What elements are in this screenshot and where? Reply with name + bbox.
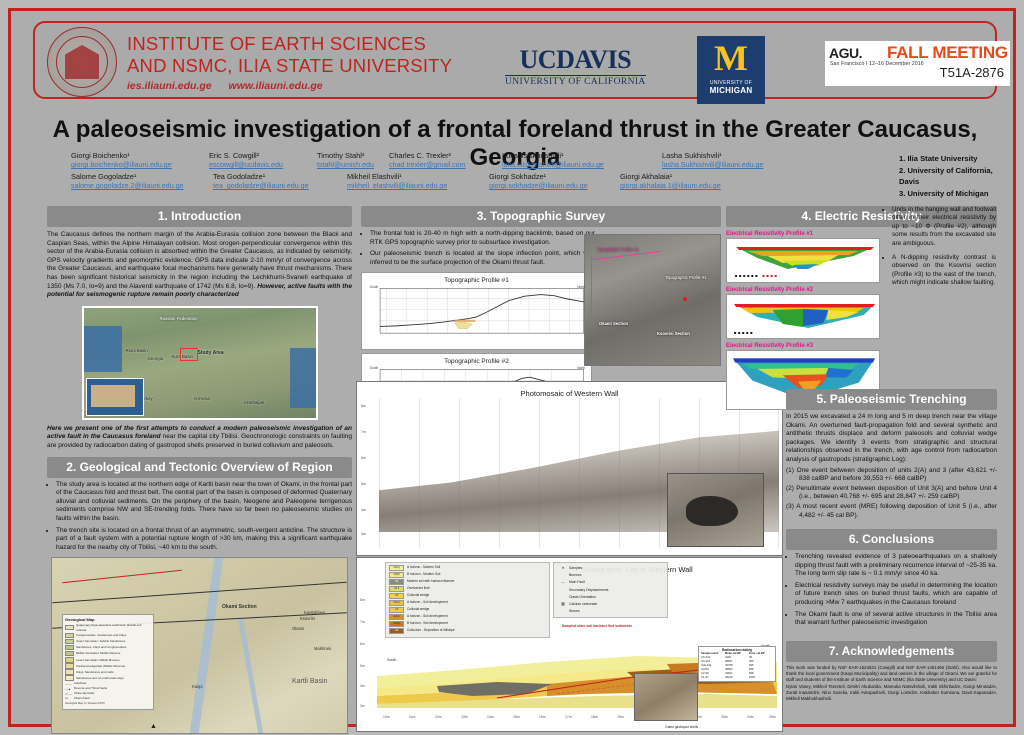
unit-label: A horizon - Soil development [407,614,448,619]
author-names-row-2: Salome Gogoladze¹ Tea Godoladze¹ Mikheil… [71,172,841,181]
column-right: 4. Electric Resistivity Electrical Resis… [726,206,997,410]
strat-xtick: 12m [435,715,442,719]
aerial-label-ksovrisi-section: Ksovrisi Section [657,331,690,336]
topographic-bullet-list: The frontal fold is 20-40 m high with a … [361,230,595,267]
profile-1-north-label: North [577,285,585,289]
legend-symbol-item: ▦Calcium carbonate [557,601,664,607]
legend-item: Sandstones and non-carbonate clays [65,675,151,681]
resistivity-2-svg [727,295,879,338]
legend-line-thrust: —▲— [65,687,72,691]
poster-abstract-code: T51A-2876 [940,65,1004,80]
strat-xtick: 23m [721,715,728,719]
study-area-box [180,348,198,361]
legend-label: Konkian-Karaganian (Middle Miocene) [76,664,125,668]
uc-davis-logo: UCDAVIS UNIVERSITY OF CALIFORNIA [505,45,646,87]
black-sea-shape [84,326,122,372]
resistivity-bullet: A N-dipping resistivity contrast is obse… [892,254,996,288]
photomosaic-panel: Photomosaic of Western Wall North 8m 7m … [356,381,783,556]
conclusion-bullet: Electrical resistivity surveys may be us… [795,582,997,608]
map-label-russia: Russian Federation [160,316,198,321]
photomosaic-ytick: 3m [361,532,366,536]
legend-item: Sandstones, Clays and Conglomerates [65,645,151,651]
symbol-marker: ∗ [557,565,569,571]
conclusion-bullet: The Okami fault is one of several active… [795,611,997,628]
table-row: U1-S7464101020 [701,676,773,680]
symbol-label: Clasts Orientation [569,594,596,600]
author-name: Eric S. Cowgill² [209,151,317,160]
okami-fault-line [62,570,181,584]
seal-crest-shape [65,45,99,79]
profile-line-vertical [591,257,592,327]
legend-item: ▪▪▪Okami Fault [65,696,151,700]
author-email[interactable]: luka.tsiskarishvili@iliauni.edu.ge [502,161,662,169]
author-name: Charles C. Trexler² [389,151,502,160]
stratigraphic-unit-legend: U6(A)A horizon - Modern Soil U6(B)B hori… [385,562,550,638]
resistivity-profile-2-image [726,294,880,339]
unit-swatch: U2(A) [389,614,404,620]
strat-xtick: 15m [513,715,520,719]
author-email[interactable]: escowgill@ucdavis.edu [209,161,317,169]
map-label-okami: Okami [292,626,304,631]
strat-xtick: 11m [409,715,415,719]
resistivity-bullet: Units in the hanging wall and footwall d… [892,206,996,248]
unit-swatch: U3(A) [389,600,404,606]
legend-swatch [65,639,74,645]
institute-line-1: INSTITUTE OF EARTH SCIENCES [127,33,452,55]
legend-swatch [65,675,74,681]
institute-url-1[interactable]: ies.iliauni.edu.ge [127,80,212,92]
legend-symbol-item: ∗Samples [557,565,664,571]
trench-closeup-photo [667,473,764,547]
map-label-ksovrisi: Ksovrisi [300,616,315,621]
legend-item: Middle Sarmatian: Middle Miocene [65,651,151,657]
legend-label: Anticlines [74,681,86,685]
legend-item: Lower Sarmatian: Middle Miocene [65,657,151,663]
strat-xtick: 19m [617,715,624,719]
strat-xtick: 10m [383,715,390,719]
profile-1-svg [364,285,589,341]
author-email[interactable]: tea_godoladze@iliauni.edu.ge [213,182,347,190]
chart-profile-1 [364,285,589,341]
unit-label: Overturned limb [407,586,430,591]
unit-label: B horizon - Modern Soil [407,572,440,577]
legend-label: Strike-slip faults [74,691,94,695]
radiocarbon-dating-table: Radiocarbon dating Sample name Mean cal … [698,646,776,682]
legend-unit-item: U3Colluvial wedge [389,607,546,613]
geology-bullet: The study area is located at the norther… [56,481,352,524]
legend-swatch [65,657,74,663]
legend-label: Conglomerates, Sandstones and Clays [76,633,126,637]
author-email[interactable]: giorgi.sokhadze@iliauni.edu.ge [489,182,620,190]
photomosaic-ytick: 5m [361,482,366,486]
poster-header: INSTITUTE OF EARTH SCIENCES AND NSMC, IL… [33,21,997,99]
resistivity-profile-2-block: Electrical Resistivity Profile #2 [726,287,997,339]
author-name: Mikheil Elashvili¹ [347,172,489,181]
legend-swatch [65,663,74,669]
unit-label: B horizon - Soil development [407,621,448,626]
stratigraphic-symbol-legend: ∗Samples Burrows —Main Fault Secondary D… [553,562,668,618]
resistivity-bullet-block: Units in the hanging wall and footwall d… [884,206,996,294]
profile-2-north-label: North [577,366,585,370]
author-name: Giorgi Akhalaia¹ [620,172,672,181]
column-left: 1. Introduction The Caucasus defines the… [47,206,352,734]
resistivity-profile-1-image [726,238,880,283]
legend-label: Upper Sarmatian: Soluble Sandstones [76,639,125,643]
symbol-label: Calcium carbonate [569,601,597,607]
section-header-introduction: 1. Introduction [47,206,352,227]
topographic-bullet: The frontal fold is 20-40 m high with a … [370,230,595,247]
acknowledgements-text: This work was funded by NSF EAR-1524631 … [786,665,997,683]
author-name: Tea Godoladze¹ [213,172,347,181]
legend-item: Clays, Sandstones and marls [65,669,151,675]
author-name: Lasha Sukhishvili¹ [662,151,722,160]
acknowledgements-names: Dylan Vasey, Mikheil Tsereteli, Dimitri … [786,684,997,702]
strat-ytick: 6m [360,642,365,646]
legend-swatch [65,651,74,657]
author-block: Giorgi Boichenko¹ Eric S. Cowgill² Timot… [71,151,841,193]
conclusion-bullet: Trenching revealed evidence of 3 paleoea… [795,553,997,579]
stratigraphic-log-panel: Stratigraphic Log of Western Wall U6(A)A… [356,557,783,732]
map-label-azerbaijan: Azerbaijan [244,400,265,405]
unit-label: A horizon - Soil development [407,600,448,605]
geological-map: Okami Section Ksovrisi Okami Mukhrani Ka… [51,557,348,734]
gastropod-shell-photo [634,673,698,721]
thrust-fault-line-1 [52,582,346,604]
legend-line-strikeslip: — — [65,692,72,696]
resistivity-bullet-list: Units in the hanging wall and footwall d… [884,206,996,288]
unit-swatch: U3-4 [389,586,404,592]
map-label-kartli-basin: Kartli Basin [292,678,327,685]
unit-swatch: U1 [389,628,404,634]
symbol-marker: ▦ [557,601,569,607]
poster-canvas: INSTITUTE OF EARTH SCIENCES AND NSMC, IL… [8,8,1016,727]
legend-line-anticline: —·— [65,682,72,686]
trenching-event: (1) One event between deposition of unit… [786,467,997,484]
umich-block-m-icon: M [697,36,765,80]
legend-symbol-item: Clasts Orientation [557,594,664,600]
map-label-okami-section: Okami Section [222,604,257,610]
legend-swatch [65,633,74,639]
author-email[interactable]: chad.trexler@gmail.com [389,161,502,169]
legend-unit-item: U1Colluvium - Deposition of hillslope [389,628,546,634]
author-name: Giorgi Sokhadze¹ [489,172,620,181]
legend-swatch [65,669,74,675]
strat-xtick: 16m [539,715,546,719]
panel-acknowledgements: 7. Acknowledgements This work was funded… [786,641,997,702]
legend-item: Konkian-Karaganian (Middle Miocene) [65,663,151,669]
strat-ytick: 3m [360,704,365,708]
affiliations-list: 1. Ilia State University 2. University o… [899,153,1013,199]
photomosaic-title: Photomosaic of Western Wall [357,389,782,398]
agu-fall-meeting-badge: AGU. FALL MEETING San Francisco I 12–16 … [825,41,1010,86]
uc-davis-wordmark: UCDAVIS [505,45,646,75]
strat-xtick: 24m [747,715,754,719]
topographic-bullet: Our paleoseismic trench is located at th… [370,250,595,267]
unit-swatch: U5 [389,579,404,585]
unit-label: Modern soil with human influence [407,579,454,584]
unit-swatch: U4 [389,593,404,599]
inset-landmass [91,385,135,407]
trenching-event: (2) Penultimate event between deposition… [786,485,997,502]
legend-item: Conglomerates, Sandstones and Clays [65,633,151,639]
aerial-label-okami-section: Okami Section [599,321,628,326]
legend-unit-item: U6(B)B horizon - Modern Soil [389,572,546,578]
strat-xtick: 17m [565,715,572,719]
symbol-marker: — [557,579,569,585]
trenching-event-list: (1) One event between deposition of unit… [786,467,997,521]
author-email[interactable]: mikheil_elashvili@iliauni.edu.ge [347,182,489,190]
rc-cell: 1020 [749,676,773,680]
legend-item: —·—Anticlines [65,681,151,685]
photomosaic-ytick: 4m [361,508,366,512]
agu-logo-text: AGU. [829,45,862,61]
author-name: Luka Tsiskarishvili¹ [502,151,662,160]
legend-label: Okami Fault [74,696,90,700]
strat-xtick: 13m [461,715,468,719]
symbol-label: Stones [569,608,580,614]
gastropod-photo-caption: Dated gastropod shells [665,725,698,729]
unit-swatch: U6(B) [389,572,404,578]
strat-ytick: 5m [360,664,365,668]
map-label-kavtiskhevi: Kavtiskhevi [304,610,325,615]
unit-swatch: U3 [389,607,404,613]
strat-x-axis: 10m 11m 12m 13m 14m 15m 16m 17m 18m 19m … [377,715,777,723]
regional-tectonic-map: Russian Federation Georgia Rioni Basin K… [82,306,318,420]
ilia-university-seal-icon [47,27,117,97]
symbol-label: Secondary Displacements [569,587,608,593]
legend-label: Clays, Sandstones and marls [76,670,114,674]
legend-item: Quaternary fluvio-lacustrine sediments: … [65,623,151,632]
author-email[interactable]: giorgi.akhalaia.1@iliauni.edu.ge [620,182,721,190]
legend-label: Reverse and Thrust faults [74,686,107,690]
legend-item: —▲—Reverse and Thrust faults [65,686,151,690]
photomosaic-ytick: 8m [361,404,366,408]
uc-davis-subtitle: UNIVERSITY OF CALIFORNIA [505,75,646,87]
north-arrow-icon: ▲ [150,723,157,730]
unit-label: Colluvial wedge [407,593,429,598]
section-header-acknowledgements: 7. Acknowledgements [786,641,997,662]
aerial-trench-photo: Topographic Profile #1 Okami Section Kso… [584,234,721,366]
unit-label: A horizon - Modern Soil [407,565,440,570]
umich-line-2: MICHIGAN [697,86,765,96]
strat-xtick: 25m [769,715,776,719]
geological-map-legend: Geological Map Quaternary fluvio-lacustr… [62,614,154,710]
legend-swatch [65,645,74,651]
strat-annotation-note: Sampled older soil horizons find sedimen… [562,624,632,628]
unit-swatch: U2(B) [389,621,404,627]
trenching-intro-text: In 2015 we excavated a 24 m long and 5 m… [786,413,997,465]
rc-cell: 46410 [725,676,749,680]
author-name: Giorgi Boichenko¹ [71,151,209,160]
resistivity-1-svg [727,239,879,282]
legend-symbol-item: —Main Fault [557,579,664,585]
author-name: Timothy Stahl³ [317,151,389,160]
author-emails-row-1: giorgi.boichenko@iliauni.edu.ge escowgil… [71,161,841,169]
affiliation-item: 1. Ilia State University [899,153,1013,165]
topographic-profile-1-panel: Topographic Profile #1 [361,272,592,350]
legend-label: Lower Sarmatian: Middle Miocene [76,658,120,662]
university-of-michigan-logo: M UNIVERSITY OF MICHIGAN [697,36,765,104]
map-label-study-area: Study Area [198,350,224,356]
legend-unit-item: U6(A)A horizon - Modern Soil [389,565,546,571]
aerial-label-topo-profile-1: Topographic Profile #1 [665,275,707,280]
map-label-rioni-basin: Rioni Basin [126,348,148,353]
profile-2-south-label: South [370,366,378,370]
author-name: Salome Gogoladze¹ [71,172,213,181]
resistivity-profile-3-label: Electrical Resistivity Profile #3 [726,343,997,349]
geology-bullet: The trench site is located on a frontal … [56,527,352,553]
legend-line-okami-fault: ▪▪▪ [65,696,72,700]
agu-meeting-text: FALL MEETING [887,43,1008,63]
strat-ytick: 4m [360,684,365,688]
section-header-geology: 2. Geological and Tectonic Overview of R… [47,457,352,478]
legend-unit-item: U3(A)A horizon - Soil development [389,600,546,606]
section-header-conclusions: 6. Conclusions [786,529,997,550]
photomosaic-ytick: 7m [361,430,366,434]
map-inset-overview [86,378,144,416]
dark-feature-shape [686,496,738,526]
chart-title-profile-1: Topographic Profile #1 [364,277,589,284]
legend-unit-item: U4Colluvial wedge [389,593,546,599]
legend-item: — —Strike-slip faults [65,691,151,695]
geology-bullet-list: The study area is located at the norther… [47,481,352,553]
introduction-paragraph-1: The Caucasus defines the northern margin… [47,231,352,300]
introduction-paragraph-2: Here we present one of the first attempt… [47,425,352,451]
panel-conclusions: 6. Conclusions Trenching revealed eviden… [786,529,997,631]
unit-swatch: U6(A) [389,565,404,571]
rc-cell: U1-S7 [701,676,725,680]
affiliation-item: 2. University of California, Davis [899,165,1013,188]
river-mtkvari [190,558,224,733]
legend-credit: Geological Map: D. Papava (1976) [65,702,151,705]
author-email[interactable]: lasha.Sukhishvili@iliauni.edu.ge [662,161,763,169]
conclusions-bullet-list: Trenching revealed evidence of 3 paleoea… [786,553,997,628]
legend-unit-item: U5Modern soil with human influence [389,579,546,585]
symbol-label: Burrows [569,572,581,578]
trench-site-marker-icon [683,297,687,301]
legend-symbol-item: Stones [557,608,664,614]
unit-label: Colluvium - Deposition of hillslope [407,628,455,633]
author-names-row-1: Giorgi Boichenko¹ Eric S. Cowgill² Timot… [71,151,841,160]
legend-label: Middle Sarmatian: Middle Miocene [76,651,120,655]
legend-label: Quaternary fluvio-lacustrine sediments: … [76,623,151,632]
affiliation-item: 3. University of Michigan [899,188,1013,200]
author-email[interactable]: tstahl@umich.edu [317,161,389,169]
legend-unit-item: U2(A)A horizon - Soil development [389,614,546,620]
map-label-georgia: Georgia [148,356,164,361]
trenching-event: (3) A most recent event (MRE) following … [786,503,997,520]
map-label-armenia: Armenia [194,396,210,401]
profile-line-magenta [591,251,661,261]
agu-meeting-location-date: San Francisco I 12–16 December 2016 [830,61,924,67]
aerial-label-profile: Topographic Profile #1 [597,247,639,252]
institute-urls: ies.iliauni.edu.ge www.iliauni.edu.ge [127,80,452,92]
strat-ytick: 8m [360,598,365,602]
panel-paleoseismic-trenching: 5. Paleoseismic Trenching In 2015 we exc… [786,389,997,521]
intro-text: The Caucasus defines the northern margin… [47,231,352,290]
strat-ytick: 7m [360,620,365,624]
legend-unit-item: U2(B)B horizon - Soil development [389,621,546,627]
legend-symbol-item: Burrows [557,572,664,578]
author-email[interactable]: salome.gogoladze.2@iliauni.edu.ge [71,182,213,190]
unit-label: Colluvial wedge [407,607,429,612]
river-tributary [238,618,263,733]
legend-title: Geological Map [65,617,151,622]
symbol-label: Samples [569,565,582,571]
caspian-sea-shape [290,348,316,408]
legend-unit-item: U3-4Overturned limb [389,586,546,592]
photomosaic-ytick: 6m [361,456,366,460]
legend-label: Sandstones, Clays and Conglomerates [76,645,126,649]
section-header-paleoseismic-trenching: 5. Paleoseismic Trenching [786,389,997,410]
chart-title-profile-2: Topographic Profile #2 [364,358,589,365]
institute-url-2[interactable]: www.iliauni.edu.ge [229,80,323,92]
map-label-kaspi: Kaspi [192,684,202,689]
symbol-label: Main Fault [569,579,585,585]
profile-1-south-label: South [370,285,378,289]
institute-line-2: AND NSMC, ILIA STATE UNIVERSITY [127,55,452,77]
legend-item: Upper Sarmatian: Soluble Sandstones [65,639,151,645]
legend-swatch [65,625,74,631]
legend-symbol-item: Secondary Displacements [557,587,664,593]
author-email[interactable]: giorgi.boichenko@iliauni.edu.ge [71,161,209,169]
map-label-mukhrani: Mukhrani [314,646,331,651]
legend-label: Sandstones and non-carbonate clays [76,676,124,680]
strat-xtick: 14m [487,715,494,719]
author-emails-row-2: salome.gogoladze.2@iliauni.edu.ge tea_go… [71,182,841,190]
strat-xtick: 18m [591,715,598,719]
institute-title-block: INSTITUTE OF EARTH SCIENCES AND NSMC, IL… [127,33,452,92]
section-header-topographic-survey: 3. Topographic Survey [361,206,721,227]
